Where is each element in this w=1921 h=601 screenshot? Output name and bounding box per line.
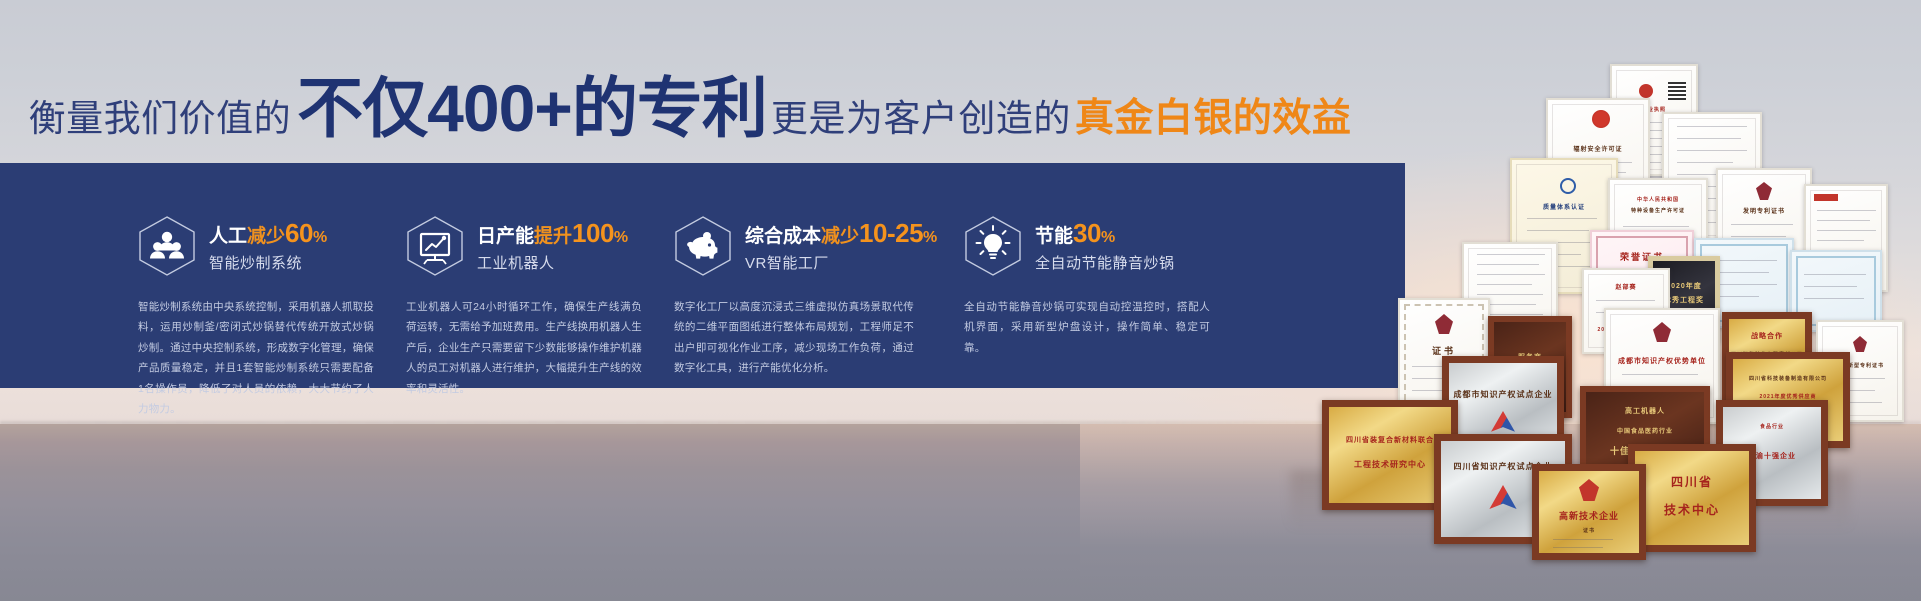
- feature-title-percent: %: [313, 229, 327, 246]
- feature-title: 日产能提升100%: [477, 219, 628, 248]
- headline-emphasis: 不仅400+的专利: [291, 77, 771, 140]
- feature-subtitle: 工业机器人: [477, 252, 628, 273]
- promo-banner: 衡量我们价值的 不仅400+的专利 更是为客户创造的 真金白银的效益: [0, 0, 1921, 601]
- headline: 衡量我们价值的 不仅400+的专利 更是为客户创造的 真金白银的效益: [0, 70, 1380, 140]
- feature-item-cost-reduction: 综合成本减少10-25% VR智能工厂 数字化工厂以高度沉浸式三维虚拟仿真场景取…: [674, 163, 964, 388]
- feature-titles: 人工减少60% 智能炒制系统: [209, 219, 327, 273]
- feature-list: 人工减少60% 智能炒制系统 智能炒制系统由中央系统控制，采用机器人抓取投料，运…: [0, 163, 1405, 388]
- feature-titles: 综合成本减少10-25% VR智能工厂: [745, 219, 937, 273]
- feature-header: 日产能提升100% 工业机器人: [406, 216, 674, 276]
- feature-title-lead: 人工: [209, 226, 247, 247]
- feature-title-number: 30: [1073, 218, 1101, 248]
- certificate-item: 四川省 技术中心: [1628, 444, 1756, 552]
- feature-title: 节能30%: [1035, 219, 1175, 248]
- certificate-item: 高新技术企业 证书: [1532, 464, 1646, 560]
- feature-titles: 节能30% 全自动节能静音炒锅: [1035, 219, 1175, 273]
- feature-title: 人工减少60%: [209, 219, 327, 248]
- headline-prefix: 衡量我们价值的: [29, 100, 292, 140]
- people-group-icon: [138, 215, 196, 277]
- feature-description: 全自动节能静音炒锅可实现自动控温控时，搭配人机界面，采用新型炉盘设计，操作简单、…: [964, 297, 1210, 358]
- feature-description: 工业机器人可24小时循环工作，确保生产线满负荷运转，无需给予加班费用。生产线换用…: [406, 297, 642, 399]
- feature-header: 综合成本减少10-25% VR智能工厂: [674, 216, 964, 276]
- feature-titles: 日产能提升100% 工业机器人: [477, 219, 628, 273]
- feature-title-highlight: 减少: [247, 226, 285, 247]
- feature-title-highlight: 提升: [534, 226, 572, 247]
- feature-description: 智能炒制系统由中央系统控制，采用机器人抓取投料，运用炒制釜/密闭式炒锅替代传统开…: [138, 297, 374, 420]
- feature-subtitle: VR智能工厂: [745, 252, 937, 273]
- feature-title-lead: 日产能: [477, 226, 534, 247]
- feature-title-lead: 节能: [1035, 226, 1073, 247]
- feature-subtitle: 智能炒制系统: [209, 252, 327, 273]
- feature-item-labor-reduction: 人工减少60% 智能炒制系统 智能炒制系统由中央系统控制，采用机器人抓取投料，运…: [138, 163, 406, 388]
- feature-subtitle: 全自动节能静音炒锅: [1035, 252, 1175, 273]
- feature-header: 人工减少60% 智能炒制系统: [138, 216, 406, 276]
- chart-board-icon: [406, 215, 464, 277]
- feature-title-number: 10-25: [859, 218, 923, 248]
- piggy-bank-icon: [674, 215, 732, 277]
- feature-title-highlight: 减少: [821, 226, 859, 247]
- feature-item-capacity-increase: 日产能提升100% 工业机器人 工业机器人可24小时循环工作，确保生产线满负荷运…: [406, 163, 674, 388]
- feature-description: 数字化工厂以高度沉浸式三维虚拟仿真场景取代传统的二维平面图纸进行整体布局规划，工…: [674, 297, 914, 379]
- feature-title-percent: %: [1101, 229, 1115, 246]
- headline-middle: 更是为客户创造的: [771, 100, 1071, 140]
- feature-title-number: 60: [285, 218, 313, 248]
- feature-header: 节能30% 全自动节能静音炒锅: [964, 216, 1244, 276]
- feature-title-percent: %: [923, 229, 937, 246]
- certificate-wall: 营业执照 辐射安全许可证: [1216, 50, 1921, 510]
- feature-title-number: 100: [572, 218, 614, 248]
- feature-title-percent: %: [614, 229, 628, 246]
- feature-item-energy-saving: 节能30% 全自动节能静音炒锅 全自动节能静音炒锅可实现自动控温控时，搭配人机界…: [964, 163, 1244, 388]
- feature-title-lead: 综合成本: [745, 226, 821, 247]
- lightbulb-icon: [964, 215, 1022, 277]
- feature-title: 综合成本减少10-25%: [745, 219, 937, 248]
